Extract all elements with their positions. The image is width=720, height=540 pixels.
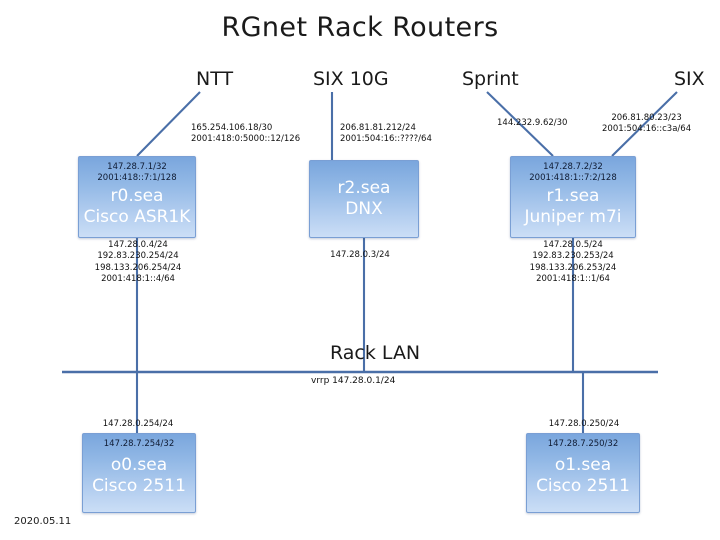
r1-iface-2: 198.133.206.253/24 [512, 263, 634, 274]
console-node-o0[interactable]: 147.28.7.254/32 o0.sea Cisco 2511 [82, 433, 196, 513]
uplink-six10g-v4: 206.81.81.212/24 [340, 123, 432, 134]
uplink-label-six10g: SIX 10G [313, 68, 389, 90]
r0-iface-1: 192.83.230.254/24 [77, 251, 199, 262]
r2-model: DNX [345, 199, 382, 220]
uplink-info-six: 206.81.80.23/23 2001:504:16::c3a/64 [602, 113, 691, 135]
uplink-six-v6: 2001:504:16::c3a/64 [602, 124, 691, 135]
r0-iface-2: 198.133.206.254/24 [77, 263, 199, 274]
r1-hostname: r1.sea [547, 186, 600, 207]
uplink-ntt-v4: 165.254.106.18/30 [191, 123, 300, 134]
r1-interface-list: 147.28.0.5/24 192.83.230.253/24 198.133.… [512, 240, 634, 286]
router-node-r2[interactable]: r2.sea DNX [309, 160, 419, 238]
o0-model: Cisco 2511 [92, 476, 186, 497]
r2-iface-0: 147.28.0.3/24 [305, 250, 415, 261]
r0-model: Cisco ASR1K [84, 207, 191, 228]
r0-iface-3: 2001:418:1::4/64 [77, 274, 199, 285]
diagram-canvas: RGnet Rack Routers NTT SIX 10G Sprint SI… [0, 0, 720, 540]
o0-interface: 147.28.0.254/24 [78, 419, 198, 430]
o0-loopback-block: 147.28.7.254/32 [104, 439, 174, 450]
r0-interface-list: 147.28.0.4/24 192.83.230.254/24 198.133.… [77, 240, 199, 286]
r1-iface-3: 2001:418:1::1/64 [512, 274, 634, 285]
r1-loopback-v6: 2001:418:1::7:2/128 [529, 173, 617, 184]
date-stamp: 2020.05.11 [14, 516, 71, 527]
o0-hostname: o0.sea [111, 455, 167, 476]
router-node-r1[interactable]: 147.28.7.2/32 2001:418:1::7:2/128 r1.sea… [510, 156, 636, 238]
o1-loopback-v4: 147.28.7.250/32 [548, 439, 618, 450]
uplink-sprint-v4: 144.232.9.62/30 [497, 118, 567, 129]
r1-loopback-block: 147.28.7.2/32 2001:418:1::7:2/128 [529, 162, 617, 184]
uplink-info-ntt: 165.254.106.18/30 2001:418:0:5000::12/12… [191, 123, 300, 145]
uplink-six-v4: 206.81.80.23/23 [602, 113, 691, 124]
r1-iface-1: 192.83.230.253/24 [512, 251, 634, 262]
o1-model: Cisco 2511 [536, 476, 630, 497]
r0-iface-0: 147.28.0.4/24 [77, 240, 199, 251]
r0-loopback-v4: 147.28.7.1/32 [97, 162, 176, 173]
r0-loopback-v6: 2001:418::7:1/128 [97, 173, 176, 184]
o0-loopback-v4: 147.28.7.254/32 [104, 439, 174, 450]
r2-hostname: r2.sea [338, 178, 391, 199]
r1-loopback-v4: 147.28.7.2/32 [529, 162, 617, 173]
r1-model: Juniper m7i [524, 207, 621, 228]
r2-interface-list: 147.28.0.3/24 [305, 250, 415, 261]
o1-hostname: o1.sea [555, 455, 611, 476]
o1-interface: 147.28.0.250/24 [524, 419, 644, 430]
uplink-label-six: SIX [674, 68, 705, 90]
uplink-label-sprint: Sprint [462, 68, 519, 90]
r1-iface-0: 147.28.0.5/24 [512, 240, 634, 251]
o1-loopback-block: 147.28.7.250/32 [548, 439, 618, 450]
r0-hostname: r0.sea [111, 186, 164, 207]
page-title: RGnet Rack Routers [0, 12, 720, 43]
rack-lan-label: Rack LAN [330, 342, 420, 364]
r0-loopback-block: 147.28.7.1/32 2001:418::7:1/128 [97, 162, 176, 184]
rack-lan-vrrp: vrrp 147.28.0.1/24 [311, 376, 395, 386]
uplink-info-six10g: 206.81.81.212/24 2001:504:16::????/64 [340, 123, 432, 145]
uplink-info-sprint: 144.232.9.62/30 [497, 118, 567, 129]
uplink-label-ntt: NTT [196, 68, 233, 90]
uplink-ntt-v6: 2001:418:0:5000::12/126 [191, 134, 300, 145]
router-node-r0[interactable]: 147.28.7.1/32 2001:418::7:1/128 r0.sea C… [78, 156, 196, 238]
uplink-six10g-v6: 2001:504:16::????/64 [340, 134, 432, 145]
console-node-o1[interactable]: 147.28.7.250/32 o1.sea Cisco 2511 [526, 433, 640, 513]
